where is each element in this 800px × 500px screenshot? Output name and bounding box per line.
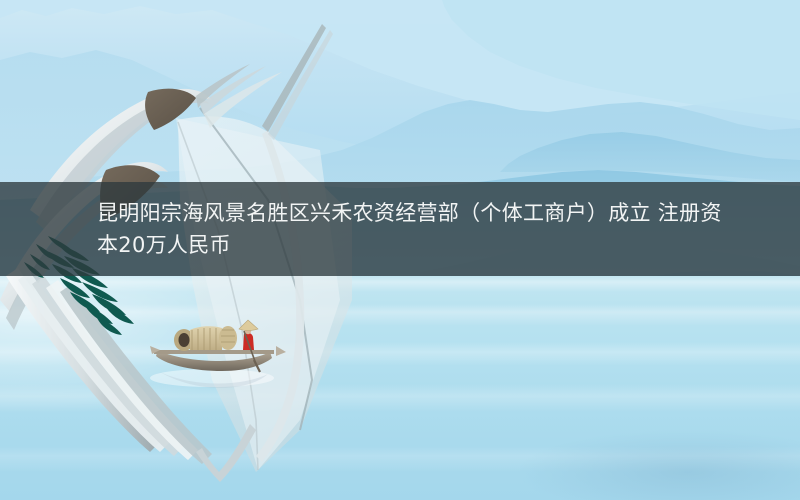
water-shadow	[520, 430, 800, 500]
news-image-card: 昆明阳宗海风景名胜区兴禾农资经营部（个体工商户）成立 注册资本20万人民币	[0, 0, 800, 500]
caption-text: 昆明阳宗海风景名胜区兴禾农资经营部（个体工商户）成立 注册资本20万人民币	[0, 197, 800, 261]
caption-overlay-band: 昆明阳宗海风景名胜区兴禾农资经营部（个体工商户）成立 注册资本20万人民币	[0, 182, 800, 276]
water-haze	[0, 276, 300, 416]
